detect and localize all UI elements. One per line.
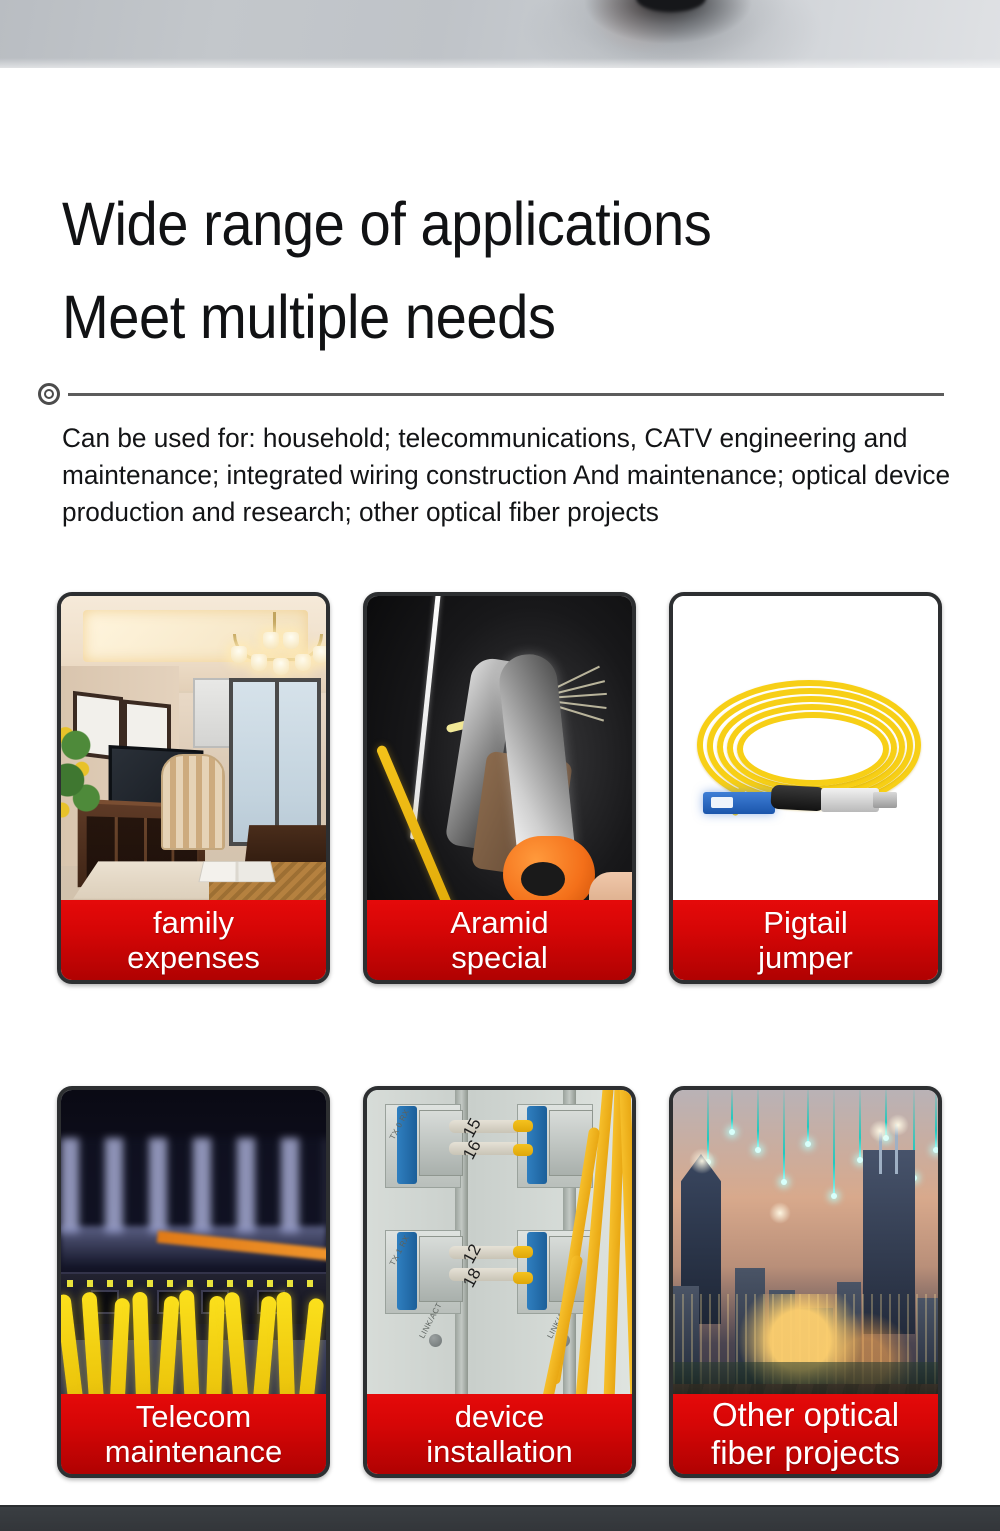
heading-line-1: Wide range of applications <box>62 178 890 271</box>
card-caption: family expenses <box>61 900 326 980</box>
card-caption: device installation <box>367 1394 632 1474</box>
card-pigtail-jumper[interactable]: Pigtail jumper <box>669 592 942 984</box>
caption-line-1: family <box>153 905 234 940</box>
application-card-grid: family expenses <box>57 592 943 1478</box>
card-telecom-maintenance[interactable]: Telecom maintenance <box>57 1086 330 1478</box>
caption-line-2: expenses <box>127 940 260 975</box>
card-caption: Telecom maintenance <box>61 1394 326 1474</box>
caption-line-2: fiber projects <box>711 1434 900 1472</box>
strip-dark-blob <box>636 0 706 12</box>
card-caption: Aramid special <box>367 900 632 980</box>
caption-line-2: maintenance <box>105 1434 283 1469</box>
ring-bullet-icon <box>38 383 60 405</box>
heading-line-2: Meet multiple needs <box>62 271 890 364</box>
top-image-strip <box>0 0 1000 68</box>
caption-line-1: Telecom <box>136 1399 251 1434</box>
card-other-fiber-projects[interactable]: Other optical fiber projects <box>669 1086 942 1478</box>
caption-line-2: installation <box>426 1434 572 1469</box>
bottom-image-strip <box>0 1505 1000 1531</box>
caption-line-2: jumper <box>758 940 853 975</box>
caption-line-1: Aramid <box>450 905 548 940</box>
card-caption: Other optical fiber projects <box>673 1394 938 1474</box>
caption-line-1: Pigtail <box>763 905 847 940</box>
caption-line-1: device <box>455 1399 545 1434</box>
card-family-expenses[interactable]: family expenses <box>57 592 330 984</box>
page-title: Wide range of applications Meet multiple… <box>62 178 962 363</box>
caption-line-1: Other optical <box>712 1396 899 1434</box>
card-caption: Pigtail jumper <box>673 900 938 980</box>
card-device-installation[interactable]: TX 0 RX 15 16 TX 1 RX 12 18 <box>363 1086 636 1478</box>
description-text: Can be used for: household; telecommunic… <box>62 420 964 531</box>
card-aramid-special[interactable]: Aramid special <box>363 592 636 984</box>
caption-line-2: special <box>451 940 548 975</box>
card-row-bottom: Telecom maintenance TX 0 RX 15 16 <box>57 1086 943 1478</box>
card-row-top: family expenses <box>57 592 943 984</box>
section-divider <box>38 379 968 409</box>
divider-line <box>68 393 944 396</box>
